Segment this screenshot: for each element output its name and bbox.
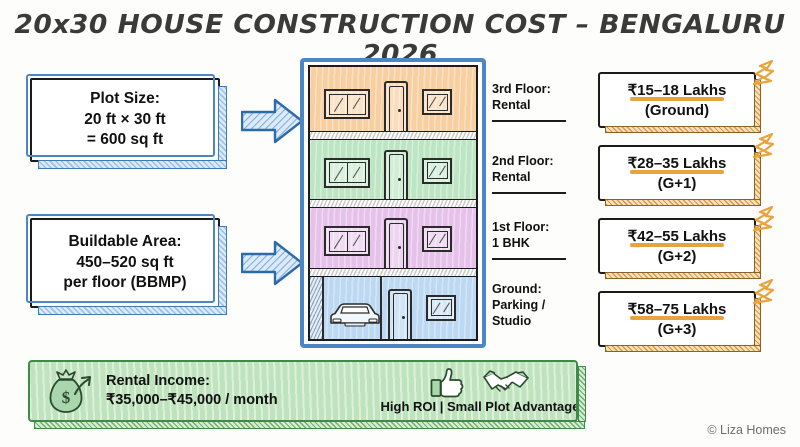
buildable-box-shadow-right bbox=[218, 226, 227, 309]
buildable-area-line-3: per floor (BBMP) bbox=[63, 273, 186, 293]
floor-slab bbox=[308, 199, 478, 208]
plot-size-box: Plot Size: 20 ft × 30 ft = 600 sq ft bbox=[30, 78, 220, 162]
right-arrow-icon bbox=[241, 96, 303, 146]
garage-pillar bbox=[310, 273, 324, 340]
rental-income-label: Rental Income: bbox=[106, 372, 278, 391]
cost-amount-highlight bbox=[630, 316, 725, 320]
cost-card-shadow-bottom bbox=[605, 345, 761, 352]
floor-label-second-line2: Rental bbox=[492, 170, 584, 186]
roi-caption: High ROI | Small Plot Advantage bbox=[381, 399, 578, 414]
plot-box-shadow-right bbox=[218, 86, 227, 163]
plot-size-line-1: Plot Size: bbox=[90, 89, 160, 109]
door-icon bbox=[388, 289, 412, 340]
rental-income-text: Rental Income: ₹35,000–₹45,000 / month bbox=[106, 372, 278, 411]
cost-card-ground: ₹15–18 Lakhs (Ground) bbox=[598, 72, 756, 128]
cost-amount-highlight bbox=[630, 170, 725, 174]
cost-card-shadow-bottom bbox=[605, 272, 761, 279]
buildable-area-line-1: Buildable Area: bbox=[68, 232, 181, 252]
plot-size-line-3: = 600 sq ft bbox=[87, 130, 163, 150]
buildable-area-box: Buildable Area: 450–520 sq ft per floor … bbox=[30, 218, 220, 308]
car-icon bbox=[327, 299, 383, 331]
floor-slab bbox=[308, 131, 478, 140]
house-floor-second bbox=[310, 136, 476, 205]
burst-icon bbox=[750, 279, 776, 309]
cost-amount-highlight bbox=[630, 97, 725, 101]
floor-label-ground-line1: Ground: bbox=[492, 282, 584, 298]
cost-card-g1: ₹28–35 Lakhs (G+1) bbox=[598, 145, 756, 201]
floor-label-ground: Ground: Parking / Studio bbox=[492, 282, 584, 330]
floor-label-divider bbox=[492, 120, 566, 122]
house-illustration bbox=[300, 58, 486, 348]
burst-icon bbox=[750, 133, 776, 163]
window-icon bbox=[422, 89, 452, 115]
house-inner-frame bbox=[308, 65, 478, 341]
cost-card-g3: ₹58–75 Lakhs (G+3) bbox=[598, 291, 756, 347]
house-floor-ground bbox=[310, 273, 476, 340]
floor-label-divider bbox=[492, 192, 566, 194]
floor-label-first: 1st Floor: 1 BHK bbox=[492, 220, 584, 252]
buildable-area-line-2: 450–520 sq ft bbox=[76, 253, 173, 273]
handshake-icon bbox=[482, 367, 530, 398]
burst-icon bbox=[750, 206, 776, 236]
floor-label-ground-line3: Studio bbox=[492, 314, 584, 330]
house-floor-third bbox=[310, 67, 476, 136]
cost-config: (G+2) bbox=[658, 248, 697, 265]
floor-label-third-line2: Rental bbox=[492, 98, 584, 114]
floor-label-list: 3rd Floor: Rental 2nd Floor: Rental 1st … bbox=[492, 60, 584, 350]
floor-label-first-line1: 1st Floor: bbox=[492, 220, 584, 236]
plot-size-line-2: 20 ft × 30 ft bbox=[84, 110, 165, 130]
banner-shadow-bottom bbox=[34, 421, 585, 429]
window-icon bbox=[426, 295, 456, 321]
floor-label-ground-line2: Parking / bbox=[492, 298, 584, 314]
banner-shadow-right bbox=[578, 366, 586, 422]
window-icon bbox=[422, 158, 452, 184]
floor-label-third: 3rd Floor: Rental bbox=[492, 82, 584, 114]
floor-label-second-line1: 2nd Floor: bbox=[492, 154, 584, 170]
window-icon bbox=[422, 226, 452, 252]
plot-box-shadow-bottom bbox=[38, 160, 227, 169]
cost-card-g2: ₹42–55 Lakhs (G+2) bbox=[598, 218, 756, 274]
cost-config: (G+3) bbox=[658, 321, 697, 338]
door-icon bbox=[384, 81, 408, 134]
roi-block: High ROI | Small Plot Advantage bbox=[385, 366, 575, 414]
floor-label-third-line1: 3rd Floor: bbox=[492, 82, 584, 98]
cost-card-shadow-bottom bbox=[605, 126, 761, 133]
money-bag-icon: $ bbox=[44, 368, 98, 414]
credit-text: © Liza Homes bbox=[707, 423, 786, 437]
buildable-box-shadow-bottom bbox=[38, 306, 227, 315]
window-icon bbox=[324, 89, 370, 119]
cost-card-shadow-bottom bbox=[605, 199, 761, 206]
cost-amount: ₹15–18 Lakhs bbox=[628, 81, 727, 99]
cost-config: (G+1) bbox=[658, 175, 697, 192]
house-floor-first bbox=[310, 204, 476, 273]
rental-income-banner: $ Rental Income: ₹35,000–₹45,000 / month… bbox=[28, 360, 578, 422]
floor-label-second: 2nd Floor: Rental bbox=[492, 154, 584, 186]
cost-amount: ₹42–55 Lakhs bbox=[628, 227, 727, 245]
thumbs-up-icon bbox=[430, 367, 464, 398]
roi-icon-group bbox=[430, 366, 530, 398]
cost-amount: ₹58–75 Lakhs bbox=[628, 300, 727, 318]
door-icon bbox=[384, 150, 408, 203]
burst-icon bbox=[750, 60, 776, 90]
floor-label-first-line2: 1 BHK bbox=[492, 236, 584, 252]
cost-amount: ₹28–35 Lakhs bbox=[628, 154, 727, 172]
door-icon bbox=[384, 218, 408, 271]
floor-label-divider bbox=[492, 258, 566, 260]
floor-slab bbox=[308, 268, 478, 277]
right-arrow-icon bbox=[241, 238, 303, 288]
svg-text:$: $ bbox=[62, 388, 71, 407]
rental-income-value: ₹35,000–₹45,000 / month bbox=[106, 391, 278, 410]
window-icon bbox=[324, 158, 370, 188]
cost-amount-highlight bbox=[630, 243, 725, 247]
window-icon bbox=[324, 226, 370, 256]
cost-config: (Ground) bbox=[645, 102, 709, 119]
